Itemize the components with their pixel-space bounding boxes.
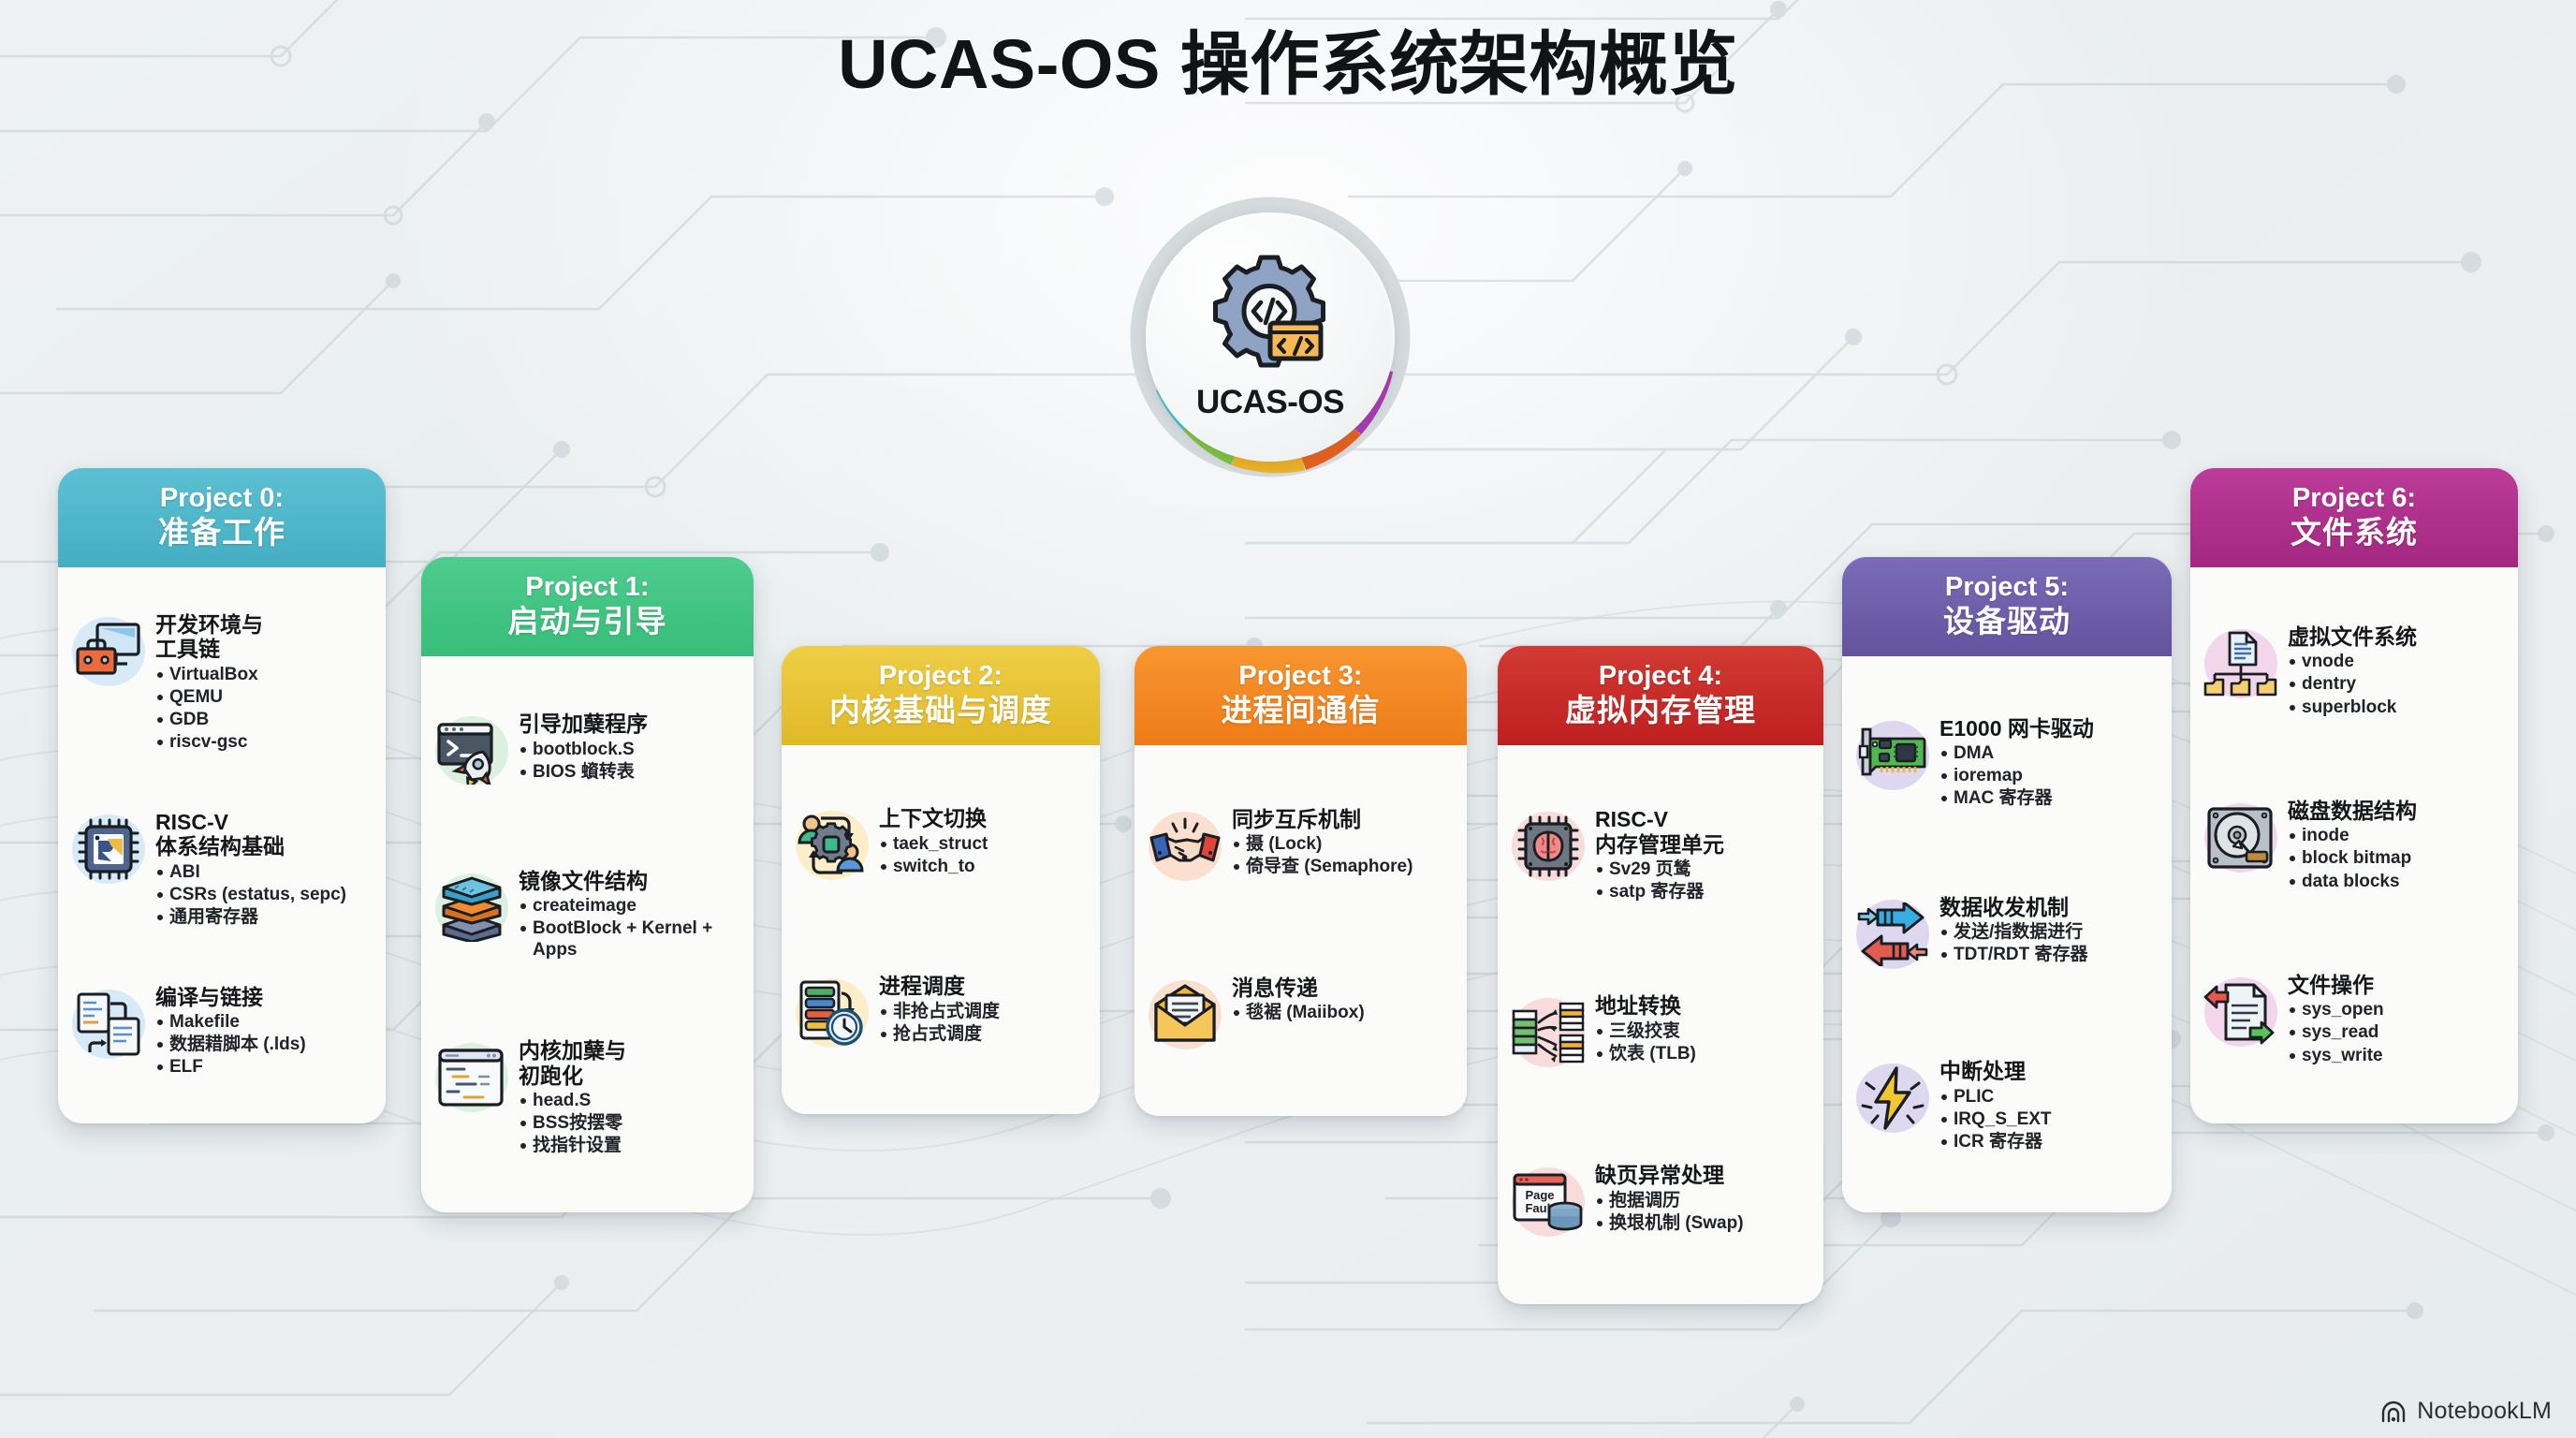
bullet: QEMU — [155, 686, 373, 708]
topic-bullets: Sv29 页鸶 satp 寄存器 — [1595, 858, 1810, 902]
topic-item[interactable]: 文件操作 sys_open sys_read sys_write — [2202, 967, 2505, 1072]
topic-text: 地址转换 三级挍衷 饮表 (TLB) — [1595, 993, 1810, 1064]
card-header-cn-0: 准备工作 — [67, 515, 376, 550]
card-header-5: Project 5: 设备驱动 — [1842, 557, 2172, 656]
bullet: Makefile — [155, 1011, 373, 1033]
project-card-2[interactable]: Project 2: 内核基础与调度 — [782, 646, 1100, 1114]
topic-bullets: sys_open sys_read sys_write — [2288, 999, 2505, 1066]
bullet: bootblock.S — [519, 739, 740, 760]
bullet: TDT/RDT 寄存器 — [1939, 944, 2159, 965]
bullet: createimage — [519, 895, 740, 917]
card-header-en-2: Project 2: — [791, 661, 1090, 693]
card-body-4: RISC-V内存管理单元 Sv29 页鸶 satp 寄存器 — [1498, 745, 1823, 1304]
topic-bullets: bootblock.S BIOS 蠀转表 — [519, 739, 740, 783]
notebooklm-watermark: NotebookLM — [2380, 1398, 2552, 1425]
topic-item[interactable]: 上下文切换 taek_struct switch_to — [793, 800, 1087, 890]
topic-text: E1000 网卡驱动 DMA ioremap MAC 寄存器 — [1939, 716, 2159, 810]
logo-disc: UCAS-OS — [1146, 213, 1395, 462]
card-header-cn-1: 启动与引导 — [431, 604, 744, 639]
bullet: switch_to — [879, 856, 1087, 877]
data-arrows-icon — [1853, 895, 1932, 974]
gear-code-icon — [1205, 254, 1336, 380]
project-card-6[interactable]: Project 6: 文件系统 — [2190, 468, 2518, 1123]
topic-text: 上下文切换 taek_struct switch_to — [879, 806, 1087, 877]
topic-item[interactable]: Page Fault 缺页异常处理 抱据调历 换垠机制 (Swap) — [1509, 1157, 1810, 1247]
lightning-icon — [1853, 1059, 1932, 1137]
topic-text: 磁盘数据结构 inode block bitmap data blocks — [2288, 799, 2505, 892]
topic-bullets: 抱据调历 换垠机制 (Swap) — [1595, 1190, 1810, 1234]
bullet: riscv-gsc — [155, 731, 373, 753]
card-header-en-5: Project 5: — [1851, 572, 2162, 604]
project-card-5[interactable]: Project 5: 设备驱动 — [1842, 557, 2172, 1212]
card-header-cn-3: 进程间通信 — [1144, 693, 1457, 728]
bullet: sys_write — [2288, 1045, 2505, 1066]
notebooklm-logo-icon — [2380, 1400, 2408, 1424]
card-body-3: 同步互斥机制 摄 (Lock) 倚导查 (Semaphore) — [1134, 745, 1467, 1116]
topic-text: 文件操作 sys_open sys_read sys_write — [2288, 973, 2505, 1066]
topic-text: 消息传递 毯裾 (Maiibox) — [1232, 976, 1454, 1023]
topic-title: RISC-V内存管理单元 — [1595, 807, 1810, 856]
topic-title: 同步互斥机制 — [1232, 807, 1454, 831]
card-body-2: 上下文切换 taek_struct switch_to — [782, 745, 1100, 1114]
card-body-0: 开发环境与工具链 VirtualBox QEMU GDB riscv-gsc — [58, 567, 386, 1123]
card-header-4: Project 4: 虚拟内存管理 — [1498, 646, 1823, 745]
project-card-0[interactable]: Project 0: 准备工作 — [58, 468, 386, 1123]
card-header-cn-5: 设备驱动 — [1851, 604, 2162, 639]
bullet: IRQ_S_EXT — [1939, 1108, 2159, 1130]
card-body-6: 虚拟文件系统 vnode dentry superblock — [2190, 567, 2518, 1123]
topic-text: 内核加蘖与初跑化 head.S BSS按摆零 找指针设置 — [519, 1038, 740, 1156]
topic-title: RISC-V体系结构基础 — [155, 810, 373, 858]
card-header-cn-6: 文件系统 — [2200, 515, 2509, 550]
topic-title: 虚拟文件系统 — [2288, 624, 2505, 649]
bullet: PLIC — [1939, 1086, 2159, 1108]
topic-bullets: createimage BootBlock + Kernel + Apps — [519, 895, 740, 961]
compile-link-icon — [69, 985, 148, 1064]
topic-item[interactable]: 进程调度 非抢占式调度 抢占式调度 — [793, 968, 1087, 1058]
bullet: block bitmap — [2288, 847, 2505, 869]
bullet: dentry — [2288, 673, 2505, 695]
bullet: 倚导查 (Semaphore) — [1232, 856, 1454, 877]
topic-text: 开发环境与工具链 VirtualBox QEMU GDB riscv-gsc — [155, 612, 373, 753]
card-header-cn-4: 虚拟内存管理 — [1507, 693, 1814, 728]
topic-bullets: head.S BSS按摆零 找指针设置 — [519, 1090, 740, 1157]
topic-title: 引导加蘖程序 — [519, 712, 740, 736]
page-fault-icon: Page Fault — [1509, 1163, 1588, 1241]
topic-text: 中断处理 PLIC IRQ_S_EXT ICR 寄存器 — [1939, 1059, 2159, 1152]
topic-bullets: 摄 (Lock) 倚导查 (Semaphore) — [1232, 833, 1454, 877]
topic-title: 地址转换 — [1595, 993, 1810, 1018]
card-header-en-1: Project 1: — [431, 572, 744, 604]
bullet: MAC 寄存器 — [1939, 787, 2159, 809]
page-title: UCAS-OS 操作系统架构概览 — [0, 26, 2576, 102]
topic-text: 引导加蘖程序 bootblock.S BIOS 蠀转表 — [519, 712, 740, 783]
card-header-en-0: Project 0: — [67, 483, 376, 515]
topic-item[interactable]: 内核加蘖与初跑化 head.S BSS按摆零 找指针设置 — [432, 1033, 740, 1162]
bullet: ICR 寄存器 — [1939, 1131, 2159, 1152]
bullet: 抢占式调度 — [879, 1023, 1087, 1045]
topic-text: 镜像文件结构 createimage BootBlock + Kernel + … — [519, 869, 740, 961]
topic-title: 文件操作 — [2288, 973, 2505, 997]
topic-text: RISC-V内存管理单元 Sv29 页鸶 satp 寄存器 — [1595, 807, 1810, 902]
card-body-1: 引导加蘖程序 bootblock.S BIOS 蠀转表 — [421, 656, 754, 1212]
topic-text: 虚拟文件系统 vnode dentry superblock — [2288, 624, 2505, 718]
topic-item[interactable]: RISC-V体系结构基础 ABI CSRs (estatus, sepc) 通用… — [69, 804, 373, 933]
bullet: vnode — [2288, 651, 2505, 672]
bullet: VirtualBox — [155, 664, 373, 685]
file-ops-icon — [2202, 973, 2280, 1051]
network-card-icon — [1853, 716, 1932, 795]
bullet: head.S — [519, 1090, 740, 1111]
topic-item[interactable]: RISC-V内存管理单元 Sv29 页鸶 satp 寄存器 — [1509, 801, 1810, 908]
ucas-os-logo: UCAS-OS — [1125, 192, 1415, 482]
bullet: 换垠机制 (Swap) — [1595, 1212, 1810, 1234]
project-card-1[interactable]: Project 1: 启动与引导 — [421, 557, 754, 1212]
topic-text: 缺页异常处理 抱据调历 换垠机制 (Swap) — [1595, 1163, 1810, 1234]
topic-bullets: DMA ioremap MAC 寄存器 — [1939, 742, 2159, 810]
bullet: 找指针设置 — [519, 1135, 740, 1156]
topic-bullets: vnode dentry superblock — [2288, 651, 2505, 718]
bullet: 毯裾 (Maiibox) — [1232, 1002, 1454, 1023]
topic-bullets: 发送/指数据进行 TDT/RDT 寄存器 — [1939, 921, 2159, 965]
bullet: Sv29 页鸶 — [1595, 858, 1810, 880]
layers-stack-icon — [432, 869, 511, 947]
topic-title: 中断处理 — [1939, 1059, 2159, 1083]
topic-item[interactable]: 消息传递 毯裾 (Maiibox) — [1146, 970, 1454, 1060]
topic-title: 磁盘数据结构 — [2288, 799, 2505, 823]
card-header-en-4: Project 4: — [1507, 661, 1814, 693]
watermark-label: NotebookLM — [2417, 1398, 2552, 1425]
envelope-icon — [1146, 976, 1224, 1054]
bullet: BSS按摆零 — [519, 1112, 740, 1134]
card-header-0: Project 0: 准备工作 — [58, 468, 386, 567]
cpu-brain-icon — [1509, 807, 1588, 886]
scheduler-clock-icon — [793, 974, 871, 1052]
bullet: 抱据调历 — [1595, 1190, 1810, 1211]
bullet: BootBlock + Kernel + Apps — [519, 917, 740, 961]
topic-text: RISC-V体系结构基础 ABI CSRs (estatus, sepc) 通用… — [155, 810, 373, 928]
project-card-4[interactable]: Project 4: 虚拟内存管理 — [1498, 646, 1823, 1304]
riscv-chip-icon — [69, 810, 148, 888]
bullet: CSRs (estatus, sepc) — [155, 884, 373, 905]
bullet: ABI — [155, 861, 373, 883]
topic-item[interactable]: 中断处理 PLIC IRQ_S_EXT ICR 寄存器 — [1853, 1053, 2159, 1158]
topic-title: 数据收发机制 — [1939, 895, 2159, 919]
card-header-3: Project 3: 进程间通信 — [1134, 646, 1467, 745]
topic-bullets: 非抢占式调度 抢占式调度 — [879, 1001, 1087, 1045]
bullet: 三级挍衷 — [1595, 1020, 1810, 1042]
vfs-tree-icon — [2202, 624, 2280, 703]
bullet: data blocks — [2288, 871, 2505, 892]
infographic-canvas: UCAS-OS 操作系统架构概览 — [0, 0, 2576, 1438]
topic-item[interactable]: 磁盘数据结构 inode block bitmap data blocks — [2202, 793, 2505, 898]
bullet: sys_open — [2288, 999, 2505, 1020]
harddisk-icon — [2202, 799, 2280, 877]
page-title-wrap: UCAS-OS 操作系统架构概览 — [0, 26, 2576, 102]
handshake-icon — [1146, 807, 1224, 886]
bullet: inode — [2288, 825, 2505, 846]
topic-title: 进程调度 — [879, 974, 1087, 998]
card-header-cn-2: 内核基础与调度 — [791, 693, 1090, 728]
bullet: superblock — [2288, 697, 2505, 718]
topic-item[interactable]: 地址转换 三级挍衷 饮表 (TLB) — [1509, 988, 1810, 1078]
logo-label: UCAS-OS — [1196, 384, 1344, 421]
topic-bullets: taek_struct switch_to — [879, 833, 1087, 877]
topic-bullets: inode block bitmap data blocks — [2288, 825, 2505, 892]
topic-item[interactable]: 编译与链接 Makefile 数据耤脚本 (.lds) ELF — [69, 979, 373, 1084]
project-card-3[interactable]: Project 3: 进程间通信 — [1134, 646, 1467, 1116]
bullet: taek_struct — [879, 833, 1087, 855]
topic-item[interactable]: 引导加蘖程序 bootblock.S BIOS 蠀转表 — [432, 706, 740, 796]
topic-title: 消息传递 — [1232, 976, 1454, 1000]
card-body-5: E1000 网卡驱动 DMA ioremap MAC 寄存器 — [1842, 656, 2172, 1212]
card-header-1: Project 1: 启动与引导 — [421, 557, 754, 656]
terminal-rocket-icon — [432, 712, 511, 790]
topic-text: 进程调度 非抢占式调度 抢占式调度 — [879, 974, 1087, 1045]
bullet: DMA — [1939, 742, 2159, 764]
bullet: 非抢占式调度 — [879, 1001, 1087, 1022]
topic-bullets: ABI CSRs (estatus, sepc) 通用寄存器 — [155, 861, 373, 929]
topic-text: 数据收发机制 发送/指数据进行 TDT/RDT 寄存器 — [1939, 895, 2159, 966]
bullet: satp 寄存器 — [1595, 881, 1810, 902]
topic-text: 同步互斥机制 摄 (Lock) 倚导查 (Semaphore) — [1232, 807, 1454, 878]
bullet: ioremap — [1939, 765, 2159, 786]
topic-bullets: PLIC IRQ_S_EXT ICR 寄存器 — [1939, 1086, 2159, 1153]
svg-text:Page: Page — [1525, 1188, 1554, 1202]
topic-title: 内核加蘖与初跑化 — [519, 1038, 740, 1087]
topic-item[interactable]: 开发环境与工具链 VirtualBox QEMU GDB riscv-gsc — [69, 607, 373, 758]
topic-item[interactable]: 同步互斥机制 摄 (Lock) 倚导查 (Semaphore) — [1146, 801, 1454, 891]
toolbox-monitor-icon — [69, 612, 148, 691]
bullet: 饮表 (TLB) — [1595, 1043, 1810, 1064]
card-header-6: Project 6: 文件系统 — [2190, 468, 2518, 567]
topic-item[interactable]: E1000 网卡驱动 DMA ioremap MAC 寄存器 — [1853, 711, 2159, 815]
bullet: ELF — [155, 1056, 373, 1078]
topic-item[interactable]: 虚拟文件系统 vnode dentry superblock — [2202, 619, 2505, 724]
topic-bullets: 毯裾 (Maiibox) — [1232, 1002, 1454, 1023]
bullet: GDB — [155, 709, 373, 730]
topic-item[interactable]: 数据收发机制 发送/指数据进行 TDT/RDT 寄存器 — [1853, 889, 2159, 979]
topic-title: 上下文切换 — [879, 806, 1087, 830]
context-switch-icon — [793, 806, 871, 885]
topic-title: 缺页异常处理 — [1595, 1163, 1810, 1187]
topic-title: 镜像文件结构 — [519, 869, 740, 893]
topic-item[interactable]: 镜像文件结构 createimage BootBlock + Kernel + … — [432, 863, 740, 967]
card-header-en-3: Project 3: — [1144, 661, 1457, 693]
card-header-en-6: Project 6: — [2200, 483, 2509, 515]
topic-bullets: 三级挍衷 饮表 (TLB) — [1595, 1020, 1810, 1064]
address-translate-icon — [1509, 993, 1588, 1072]
bullet: 发送/指数据进行 — [1939, 921, 2159, 943]
topic-bullets: VirtualBox QEMU GDB riscv-gsc — [155, 664, 373, 754]
topic-bullets: Makefile 数据耤脚本 (.lds) ELF — [155, 1011, 373, 1078]
bullet: sys_read — [2288, 1021, 2505, 1043]
topic-text: 编译与链接 Makefile 数据耤脚本 (.lds) ELF — [155, 985, 373, 1078]
bullet: 通用寄存器 — [155, 906, 373, 928]
bullet: 摄 (Lock) — [1232, 833, 1454, 855]
card-header-2: Project 2: 内核基础与调度 — [782, 646, 1100, 745]
topic-title: 编译与链接 — [155, 985, 373, 1009]
code-window-icon — [432, 1038, 511, 1117]
bullet: BIOS 蠀转表 — [519, 761, 740, 783]
bullet: 数据耤脚本 (.lds) — [155, 1034, 373, 1055]
topic-title: E1000 网卡驱动 — [1939, 716, 2159, 741]
topic-title: 开发环境与工具链 — [155, 612, 373, 661]
